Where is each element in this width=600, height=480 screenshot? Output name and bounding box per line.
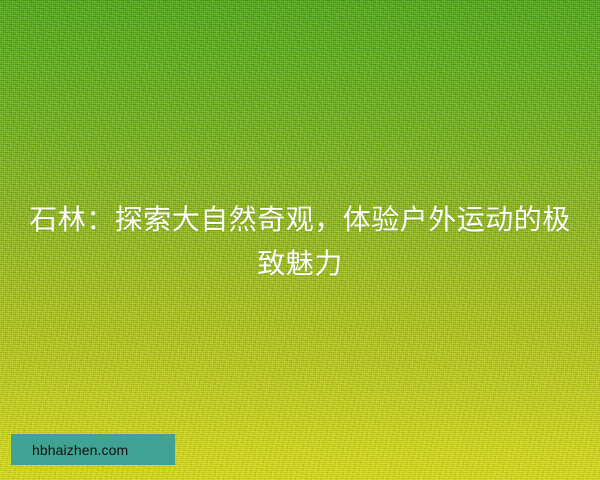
- title-block: 石林：探索大自然奇观，体验户外运动的极致魅力: [0, 198, 600, 286]
- page-title: 石林：探索大自然奇观，体验户外运动的极致魅力: [28, 198, 572, 286]
- watermark-badge: hbhaizhen.com: [11, 434, 175, 465]
- watermark-site-label: hbhaizhen.com: [11, 443, 128, 457]
- poster-canvas: 石林：探索大自然奇观，体验户外运动的极致魅力 hbhaizhen.com: [0, 0, 600, 480]
